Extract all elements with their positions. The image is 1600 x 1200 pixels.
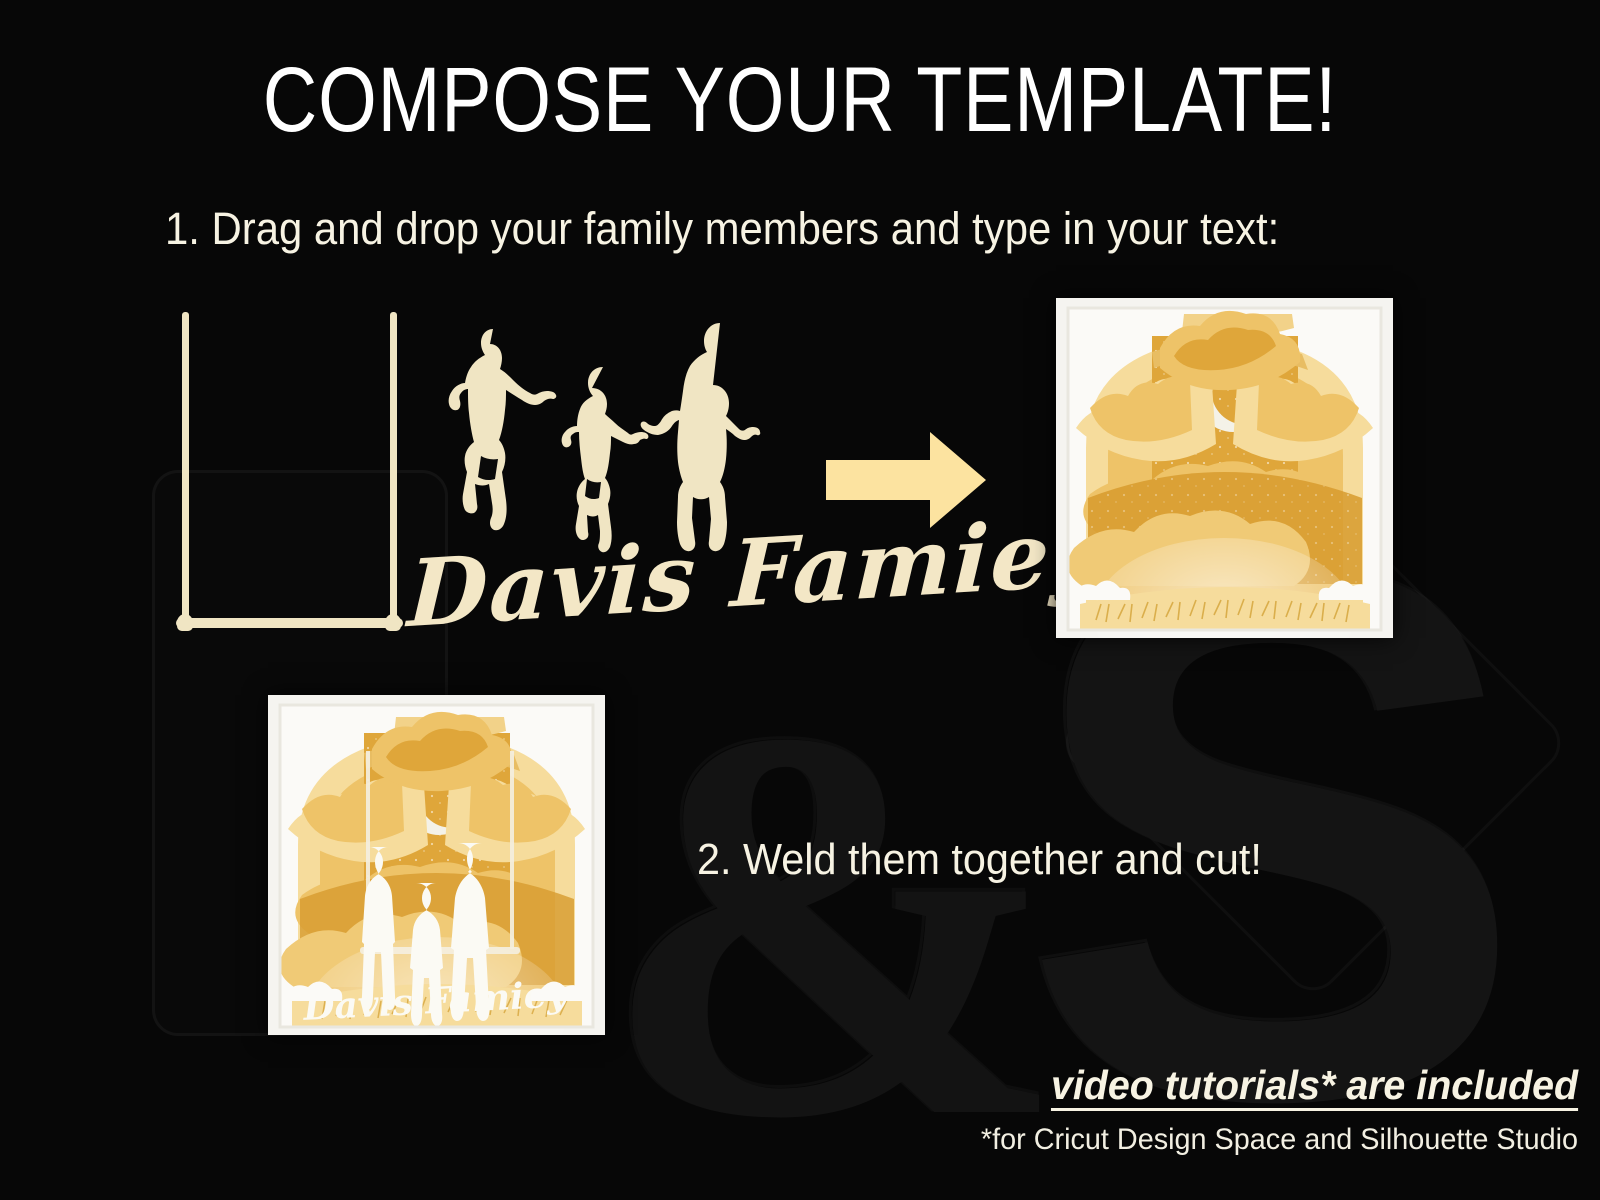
swing-knot-right	[385, 614, 401, 631]
poster-canvas: & & S S COMPOSE YOUR TEMPLATE! 1. Drag a…	[0, 0, 1600, 1200]
swing-knot-left	[177, 614, 193, 631]
swing-rope-right	[390, 312, 397, 622]
step-2-label: 2. Weld them together and cut!	[697, 835, 1262, 885]
papercut-preview-bottom[interactable]: Davis Famiey	[268, 695, 605, 1035]
right-arrow-icon	[826, 432, 986, 528]
page-title: COMPOSE YOUR TEMPLATE!	[144, 48, 1456, 153]
child-silhouette	[562, 367, 649, 552]
mother-silhouette	[641, 323, 761, 551]
swing-frame[interactable]	[182, 312, 397, 632]
watermark-ampersand: &	[600, 700, 1066, 1148]
footer-note: *for Cricut Design Space and Silhouette …	[981, 1123, 1578, 1157]
step-1-label: 1. Drag and drop your family members and…	[165, 203, 1279, 255]
papercut-preview-top[interactable]	[1056, 298, 1393, 638]
watermark-letter-glow: S	[1018, 558, 1525, 1105]
swing-rope-left	[182, 312, 189, 622]
father-silhouette	[449, 329, 557, 530]
swing-seat	[176, 618, 403, 628]
watermark-ampersand-glow: &	[598, 698, 1064, 1146]
watermark-letter: S	[1020, 560, 1527, 1107]
footer-headline: video tutorials* are included	[1051, 1062, 1578, 1109]
